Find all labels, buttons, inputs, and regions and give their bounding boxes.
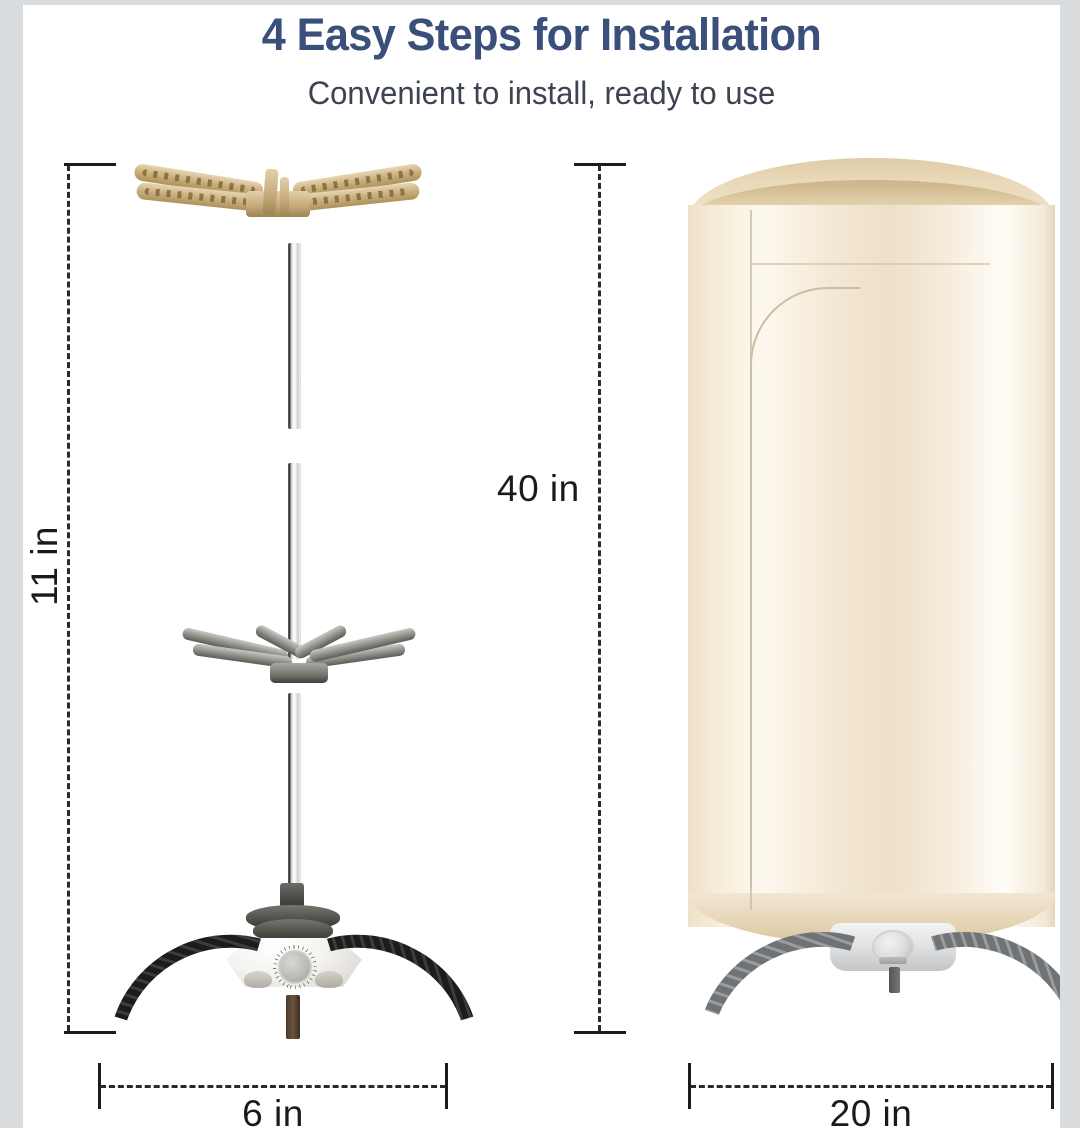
cover-seam-horizontal <box>750 263 990 265</box>
left-height-label: 11 in <box>24 521 66 611</box>
right-height-label: 40 in <box>497 468 580 510</box>
top-hanger-rack <box>128 165 428 227</box>
page-subtitle: Convenient to install, ready to use <box>39 75 1045 112</box>
right-height-dimension-line <box>598 165 601 1031</box>
pole-segment-middle <box>288 463 301 659</box>
page-title: 4 Easy Steps for Installation <box>44 9 1040 61</box>
infographic-canvas: 4 Easy Steps for Installation Convenient… <box>23 5 1060 1128</box>
cover-body <box>688 205 1055 927</box>
left-height-dimension-line <box>67 165 70 1031</box>
infographic-frame: 4 Easy Steps for Installation Convenient… <box>0 0 1080 1128</box>
pole-segment-upper <box>288 243 301 429</box>
hanger-clip-secondary <box>280 177 289 217</box>
zipper-seam <box>750 287 860 887</box>
right-height-cap-bottom <box>574 1031 626 1034</box>
pole-segment-lower <box>288 693 301 885</box>
left-height-cap-top <box>64 163 116 166</box>
rack-hub <box>270 663 328 683</box>
hanger-hub <box>246 191 310 217</box>
mid-spider-rack <box>178 635 418 695</box>
